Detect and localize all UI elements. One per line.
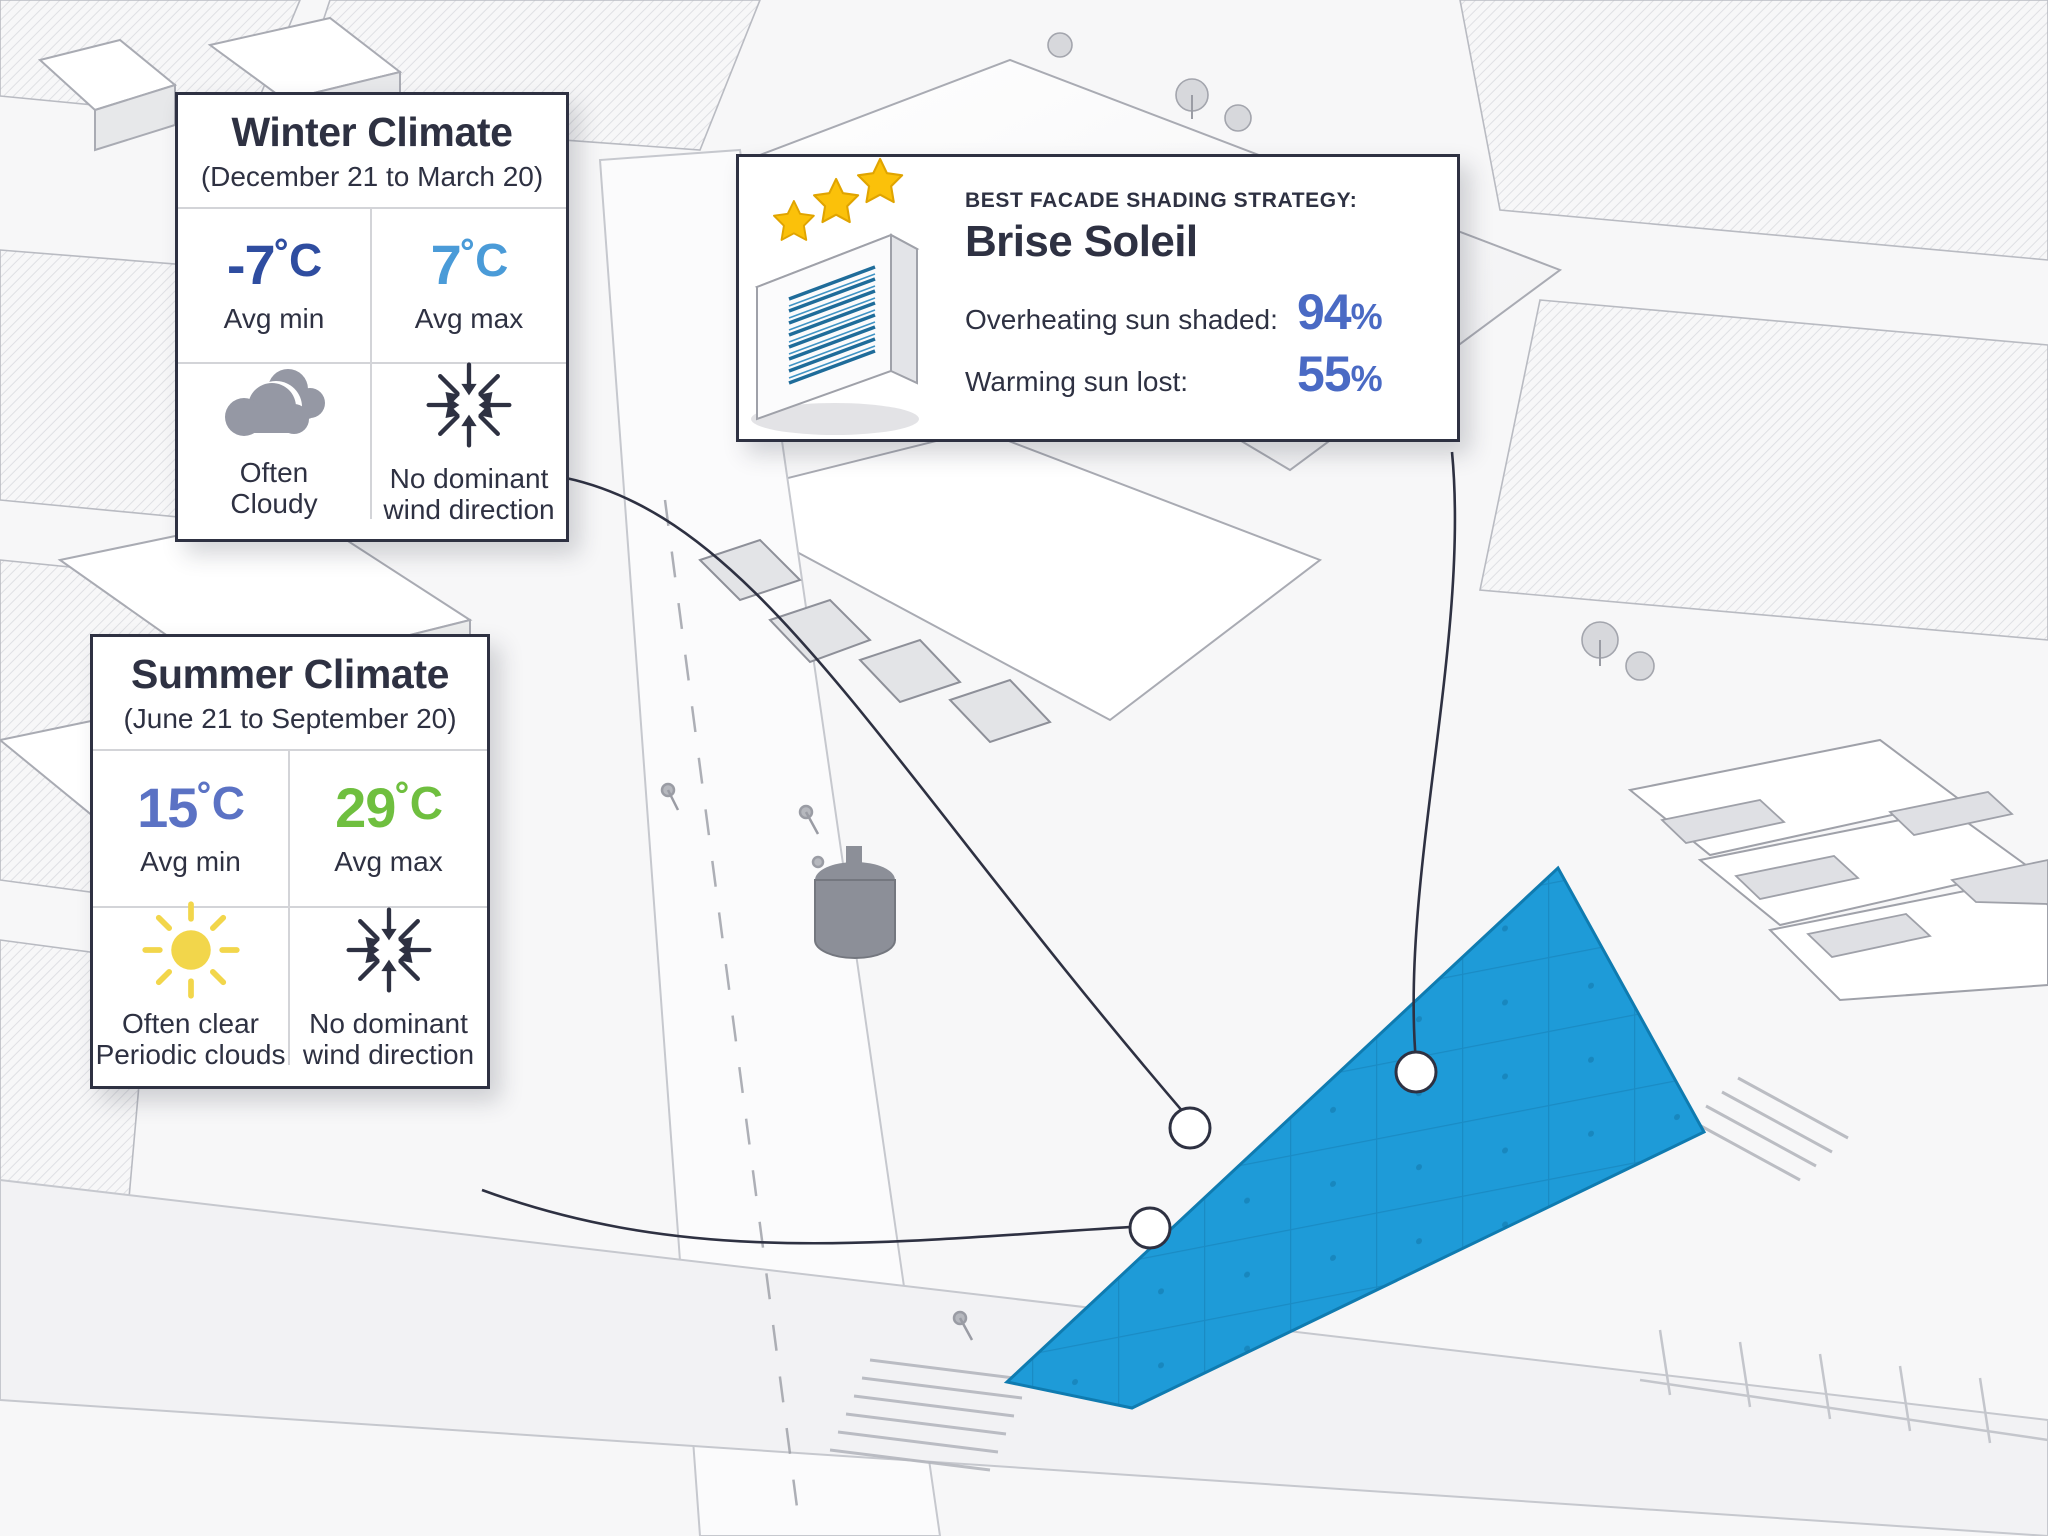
winter-avg-min-value: -7˚C bbox=[227, 237, 321, 293]
winter-avg-max-value: 7˚C bbox=[431, 237, 508, 293]
winter-avg-min-label: Avg min bbox=[224, 303, 325, 334]
strategy-text-block: BEST FACADE SHADING STRATEGY: Brise Sole… bbox=[965, 189, 1457, 407]
best-shading-strategy-card[interactable]: BEST FACADE SHADING STRATEGY: Brise Sole… bbox=[736, 154, 1460, 442]
summer-climate-card[interactable]: Summer Climate (June 21 to September 20)… bbox=[90, 634, 490, 1089]
stat-value-overheating: 94% bbox=[1297, 283, 1447, 341]
strategy-name: Brise Soleil bbox=[965, 217, 1447, 267]
winter-title: Winter Climate bbox=[188, 111, 556, 154]
winter-wind-label: No dominant wind direction bbox=[383, 463, 554, 526]
winter-sky-label: Often Cloudy bbox=[230, 457, 317, 520]
summer-avg-min-value: 15˚C bbox=[137, 780, 244, 836]
stat-row-warming-lost: Warming sun lost: 55% bbox=[965, 345, 1447, 403]
winter-avg-max-label: Avg max bbox=[415, 303, 523, 334]
summer-subtitle: (June 21 to September 20) bbox=[103, 704, 477, 735]
winter-wind-cell: No dominant wind direction bbox=[372, 364, 566, 519]
stat-value-warming-lost: 55% bbox=[1297, 345, 1447, 403]
summer-card-header: Summer Climate (June 21 to September 20) bbox=[93, 637, 487, 749]
summer-avg-min-label: Avg min bbox=[140, 846, 241, 877]
strategy-kicker: BEST FACADE SHADING STRATEGY: bbox=[965, 189, 1447, 213]
no-dominant-wind-icon bbox=[414, 357, 524, 453]
rating-stars bbox=[774, 159, 902, 240]
summer-avg-min-cell: 15˚C Avg min bbox=[93, 751, 290, 908]
summer-wind-cell: No dominant wind direction bbox=[290, 908, 487, 1065]
climate-analysis-canvas: Winter Climate (December 21 to March 20)… bbox=[0, 0, 2048, 1536]
sunny-icon bbox=[139, 902, 243, 998]
stat-row-overheating: Overheating sun shaded: 94% bbox=[965, 283, 1447, 341]
winter-avg-min-cell: -7˚C Avg min bbox=[178, 209, 372, 364]
winter-subtitle: (December 21 to March 20) bbox=[188, 162, 556, 193]
stat-label-overheating: Overheating sun shaded: bbox=[965, 304, 1297, 336]
summer-wind-label: No dominant wind direction bbox=[303, 1008, 474, 1071]
winter-card-header: Winter Climate (December 21 to March 20) bbox=[178, 95, 566, 207]
summer-sky-cell: Often clear Periodic clouds bbox=[93, 908, 290, 1065]
summer-sky-label: Often clear Periodic clouds bbox=[96, 1008, 286, 1071]
winter-sky-cell: Often Cloudy bbox=[178, 364, 372, 519]
winter-climate-card[interactable]: Winter Climate (December 21 to March 20)… bbox=[175, 92, 569, 542]
summer-avg-max-value: 29˚C bbox=[335, 780, 442, 836]
brise-soleil-illustration bbox=[739, 157, 965, 439]
summer-avg-max-cell: 29˚C Avg max bbox=[290, 751, 487, 908]
summer-avg-max-label: Avg max bbox=[334, 846, 442, 877]
cloudy-icon bbox=[214, 363, 334, 447]
stat-label-warming-lost: Warming sun lost: bbox=[965, 366, 1297, 398]
summer-metrics-grid: 15˚C Avg min 29˚C Avg max bbox=[93, 749, 487, 1065]
no-dominant-wind-icon bbox=[334, 902, 444, 998]
summer-title: Summer Climate bbox=[103, 653, 477, 696]
winter-metrics-grid: -7˚C Avg min 7˚C Avg max bbox=[178, 207, 566, 519]
winter-avg-max-cell: 7˚C Avg max bbox=[372, 209, 566, 364]
